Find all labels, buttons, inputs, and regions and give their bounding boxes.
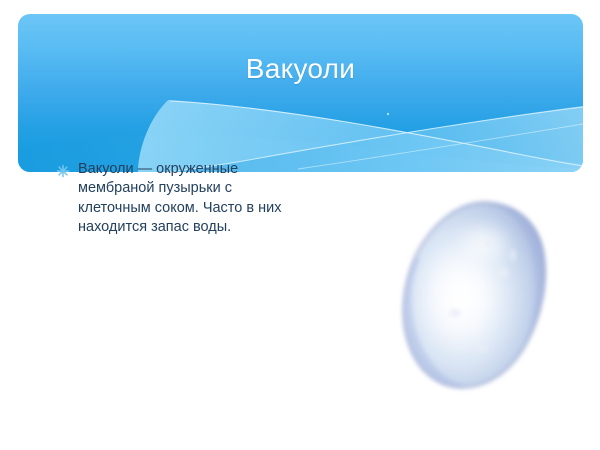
list-item: Вакуоли — окруженные мембраной пузырьки … xyxy=(56,160,306,238)
body-paragraph: Вакуоли — окруженные мембраной пузырьки … xyxy=(78,160,306,238)
presentation-slide: Вакуоли Вакуоли — окруженные мембраной п… xyxy=(0,0,600,450)
vacuole-illustration xyxy=(388,196,574,396)
title-banner: Вакуоли xyxy=(18,14,583,172)
asterisk-bullet-icon xyxy=(56,164,70,178)
slide-title: Вакуоли xyxy=(18,54,583,85)
body-content: Вакуоли — окруженные мембраной пузырьки … xyxy=(56,160,306,238)
banner-wave-decoration xyxy=(18,14,583,172)
vacuole-shape xyxy=(388,196,574,396)
